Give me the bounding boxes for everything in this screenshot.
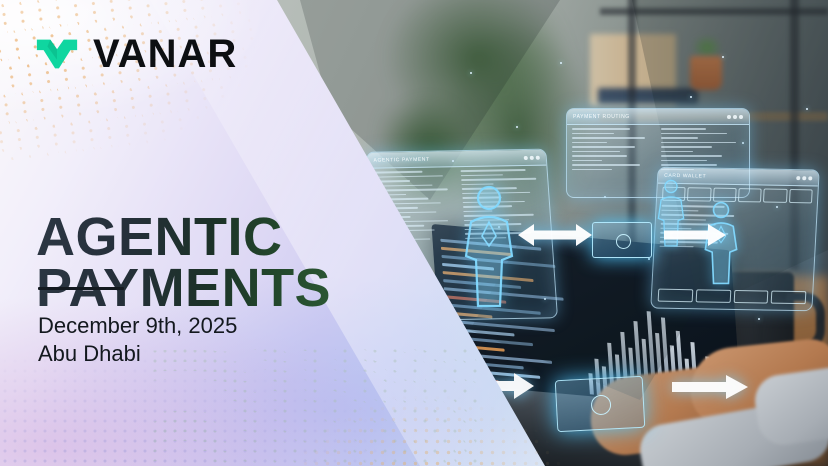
poster-content: VANAR AGENTIC PAYMENTS December 9th, 202… (0, 0, 828, 466)
brand-wordmark: VANAR (93, 34, 237, 74)
event-poster: AGENTIC PAYMENT (0, 0, 828, 466)
vanar-v-logo-icon (34, 31, 80, 77)
page-title: AGENTIC PAYMENTS (36, 212, 331, 314)
event-meta: December 9th, 2025 Abu Dhabi (38, 312, 237, 368)
brand-logo[interactable]: VANAR (34, 31, 237, 77)
title-divider (38, 287, 124, 290)
